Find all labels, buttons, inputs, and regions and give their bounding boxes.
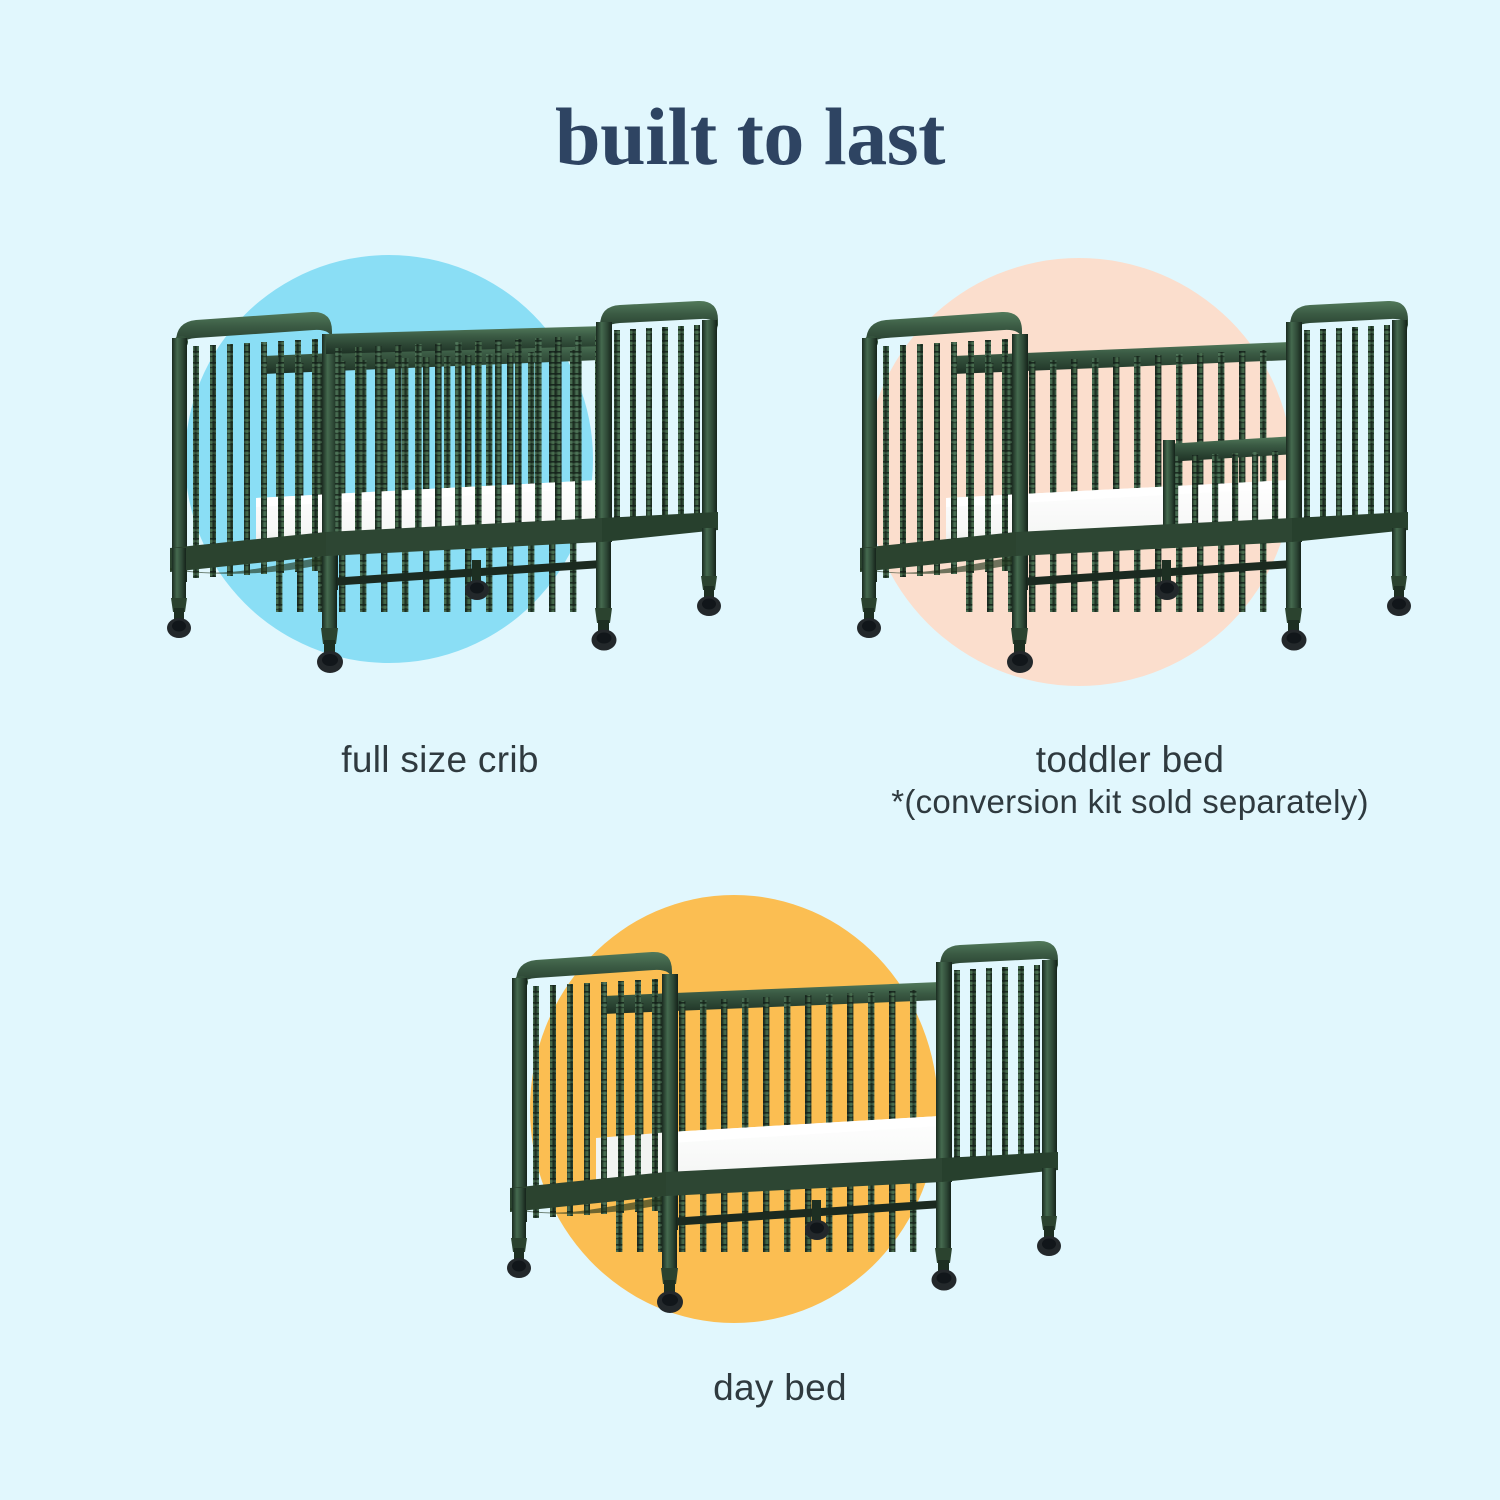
caption-main: toddler bed	[790, 738, 1470, 782]
product-panel-toddler-bed	[820, 230, 1440, 710]
page-title: built to last	[0, 96, 1500, 178]
caption-main: full size crib	[130, 738, 750, 782]
caption-full-size-crib: full size crib	[130, 738, 750, 782]
caption-toddler-bed: toddler bed *(conversion kit sold separa…	[790, 738, 1470, 821]
footboard	[936, 941, 1058, 1182]
infographic-page: built to last	[0, 0, 1500, 1500]
footboard	[1286, 301, 1408, 542]
product-panel-day-bed	[470, 870, 1090, 1350]
footboard	[596, 301, 718, 542]
crib-icon	[130, 230, 750, 710]
product-panel-full-size-crib	[130, 230, 750, 710]
caption-sub: *(conversion kit sold separately)	[790, 782, 1470, 822]
caption-day-bed: day bed	[470, 1366, 1090, 1410]
caption-main: day bed	[470, 1366, 1090, 1410]
day-bed-icon	[470, 870, 1090, 1350]
toddler-bed-icon	[820, 230, 1440, 710]
